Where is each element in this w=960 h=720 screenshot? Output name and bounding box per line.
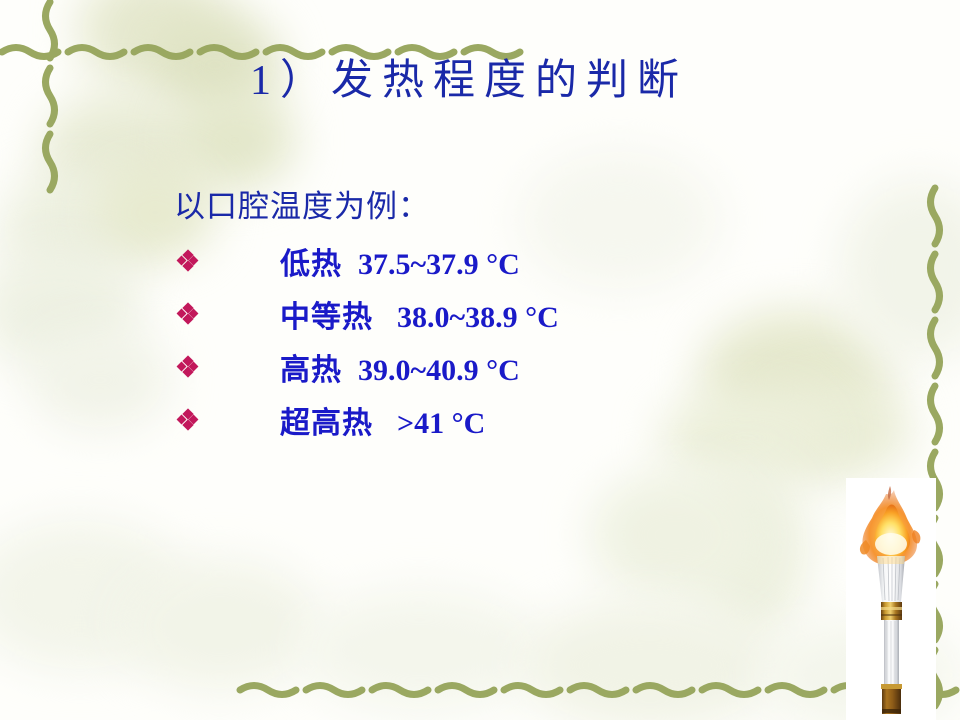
content-body: 以口腔温度为例： 低热 37.5~37.9 °C 中等热 38.0~38.9 °… <box>174 188 834 447</box>
flame <box>860 486 920 565</box>
four-diamond-bullet-icon <box>174 357 216 377</box>
torch-base-cap <box>881 684 902 714</box>
slide-canvas: 1）发热程度的判断 以口腔温度为例： 低热 37.5~37.9 °C 中等热 3… <box>0 0 960 720</box>
four-diamond-bullet-icon <box>174 304 216 324</box>
four-diamond-bullet-icon <box>174 251 216 271</box>
burning-torch-image <box>846 478 936 720</box>
torch-brass-band <box>881 602 902 620</box>
page-title: 1）发热程度的判断 <box>250 58 730 104</box>
torch-head <box>877 556 905 602</box>
four-diamond-bullet-icon <box>174 410 216 430</box>
list-item-value: >41 °C <box>397 407 485 440</box>
list-item-label: 超高热 <box>280 407 373 440</box>
torch-handle <box>884 620 899 692</box>
